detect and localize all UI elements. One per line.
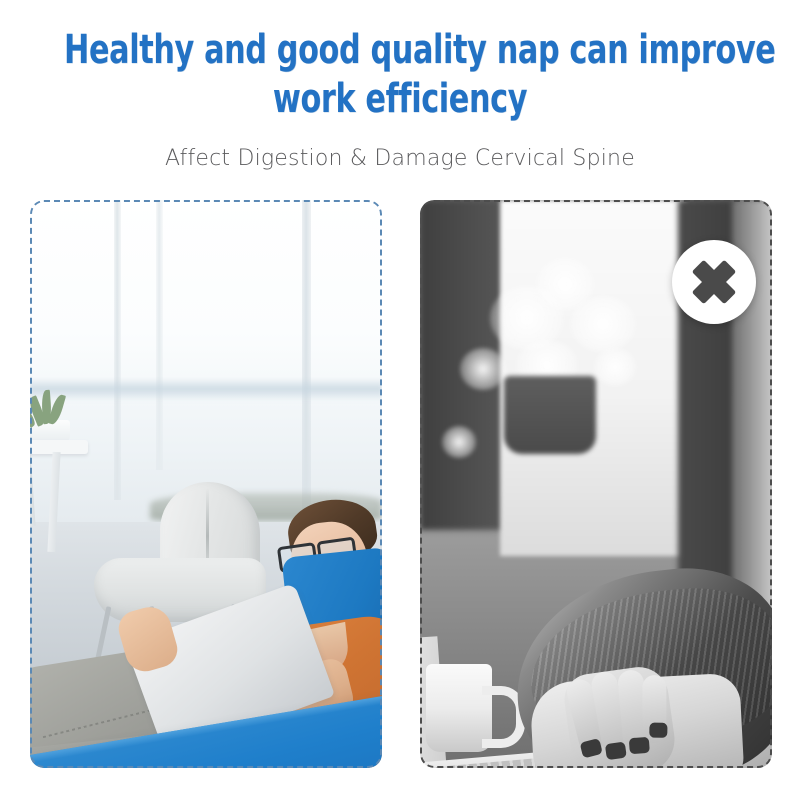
close-x-icon <box>672 240 756 324</box>
blurred-vase <box>504 376 596 454</box>
sea-horizon <box>30 378 382 400</box>
fingernail <box>649 723 667 738</box>
fingernail <box>629 737 650 754</box>
photo-bad-example <box>420 200 772 768</box>
blurred-flower <box>594 348 636 386</box>
window-wall <box>30 200 382 530</box>
window-mullion <box>114 200 121 500</box>
fingernail <box>605 742 627 761</box>
person-hand <box>561 663 679 768</box>
blurred-bokeh <box>442 426 476 458</box>
headline-block: Healthy and good quality nap can improve… <box>0 26 800 124</box>
photo-good-example <box>30 200 382 768</box>
subtitle: Affect Digestion & Damage Cervical Spine <box>0 146 800 171</box>
blurred-flower <box>460 348 506 390</box>
scene-living-room <box>30 200 382 768</box>
fingernail <box>580 738 603 758</box>
window-mullion <box>156 200 163 470</box>
panel-bad-example <box>420 200 772 768</box>
panel-good-example <box>30 200 382 768</box>
blurred-flower <box>570 296 636 352</box>
headline-line-1: Healthy and good quality nap can improve <box>64 26 736 75</box>
close-x-badge <box>672 240 756 324</box>
headline-line-2: work efficiency <box>64 75 736 124</box>
window-mullion <box>302 200 311 538</box>
